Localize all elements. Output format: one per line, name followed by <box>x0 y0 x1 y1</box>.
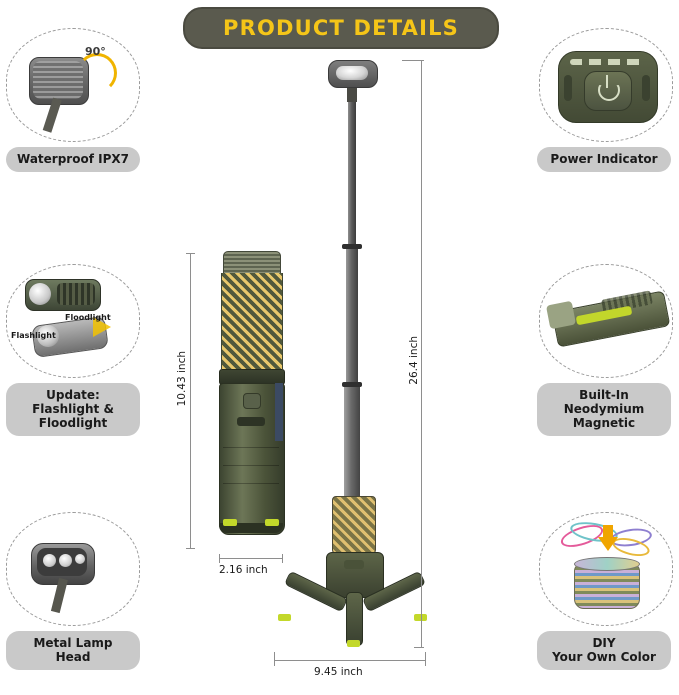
product-details-page: PRODUCT DETAILS 90° Waterproof IPX7 Flas… <box>0 0 679 695</box>
side-grip-icon <box>642 75 650 101</box>
tripod-lamp-extended-view <box>176 46 506 691</box>
waterproof-thumbnail: 90° <box>6 28 140 142</box>
power-indicator-caption: Power Indicator <box>537 147 671 172</box>
dim-label-tripod-height: 26.4 inch <box>408 336 420 385</box>
floodlight-label: Floodlight <box>65 313 111 322</box>
rotation-arc-icon <box>77 53 117 93</box>
dim-label-tripod-width: 9.45 inch <box>314 666 363 678</box>
dim-tick <box>414 647 424 648</box>
page-title-banner: PRODUCT DETAILS <box>183 7 499 49</box>
decorated-lamp-top-icon <box>574 557 640 571</box>
feature-power-indicator: Power Indicator <box>523 28 673 172</box>
lamp-head-ridges-icon <box>33 61 83 99</box>
dim-line-lantern-height <box>190 253 191 549</box>
pole-lower-icon <box>344 384 360 496</box>
tripod-leg-icon <box>346 592 363 646</box>
feature-flashlight-floodlight: Flashlight Floodlight Update: Flashlight… <box>6 264 156 436</box>
led-dot-icon <box>43 554 56 567</box>
dim-line-tripod-height <box>421 60 422 648</box>
led-dot-icon <box>59 554 72 567</box>
led-dot-icon <box>75 554 85 564</box>
pole-middle-icon <box>346 246 358 386</box>
knurled-grip-icon <box>332 496 376 554</box>
diy-color-caption: DIY Your Own Color <box>537 631 671 670</box>
diy-color-thumbnail <box>539 512 673 626</box>
down-arrow-icon <box>598 537 618 551</box>
dim-tick <box>402 60 424 61</box>
flashlight-floodlight-caption: Update: Flashlight & Floodlight <box>6 383 140 436</box>
dim-label-lantern-width: 2.16 inch <box>219 564 268 576</box>
flashlight-floodlight-thumbnail: Flashlight Floodlight <box>6 264 140 378</box>
magnetic-caption: Built-In Neodymium Magnetic <box>537 383 671 436</box>
power-symbol-bar-icon <box>606 75 608 88</box>
waterproof-caption: Waterproof IPX7 <box>6 147 140 172</box>
lamp-lens-icon <box>336 66 368 80</box>
page-title: PRODUCT DETAILS <box>223 16 459 40</box>
side-grip-icon <box>564 75 572 101</box>
feature-magnetic: Built-In Neodymium Magnetic <box>523 264 673 436</box>
floodlight-lens-icon <box>29 283 51 305</box>
feature-diy-color: DIY Your Own Color <box>523 512 673 670</box>
metal-lamp-head-caption: Metal Lamp Head <box>6 631 140 670</box>
dim-tick <box>186 253 195 254</box>
pole-joint-icon <box>342 382 362 387</box>
feature-metal-lamp-head: Metal Lamp Head <box>6 512 156 670</box>
tripod-foot-accent-icon <box>278 614 291 621</box>
tripod-foot-accent-icon <box>347 640 360 647</box>
power-indicator-thumbnail <box>539 28 673 142</box>
battery-level-bars-icon <box>570 59 644 65</box>
feature-waterproof: 90° Waterproof IPX7 <box>6 28 156 172</box>
dim-line-lantern-width <box>219 558 283 559</box>
dim-tick <box>425 652 426 666</box>
dim-tick <box>274 652 275 666</box>
tripod-hub-button-icon <box>344 560 364 569</box>
dim-label-lantern-height: 10.43 inch <box>176 351 188 406</box>
dim-tick <box>282 554 283 563</box>
dim-tick <box>186 548 195 549</box>
pole-upper-icon <box>348 98 356 248</box>
floodlight-panel-icon <box>57 283 95 305</box>
product-illustration: 10.43 inch 2.16 inch 26.4 inch 9.45 inch <box>176 46 506 691</box>
pole-joint-icon <box>342 244 362 249</box>
angle-label: 90° <box>85 45 106 58</box>
flashlight-label: Flashlight <box>11 331 56 340</box>
lamp-tip-icon <box>546 301 576 330</box>
dim-tick <box>219 554 220 563</box>
magnetic-thumbnail <box>539 264 673 378</box>
metal-lamp-head-thumbnail <box>6 512 140 626</box>
dim-line-tripod-width <box>274 660 426 661</box>
